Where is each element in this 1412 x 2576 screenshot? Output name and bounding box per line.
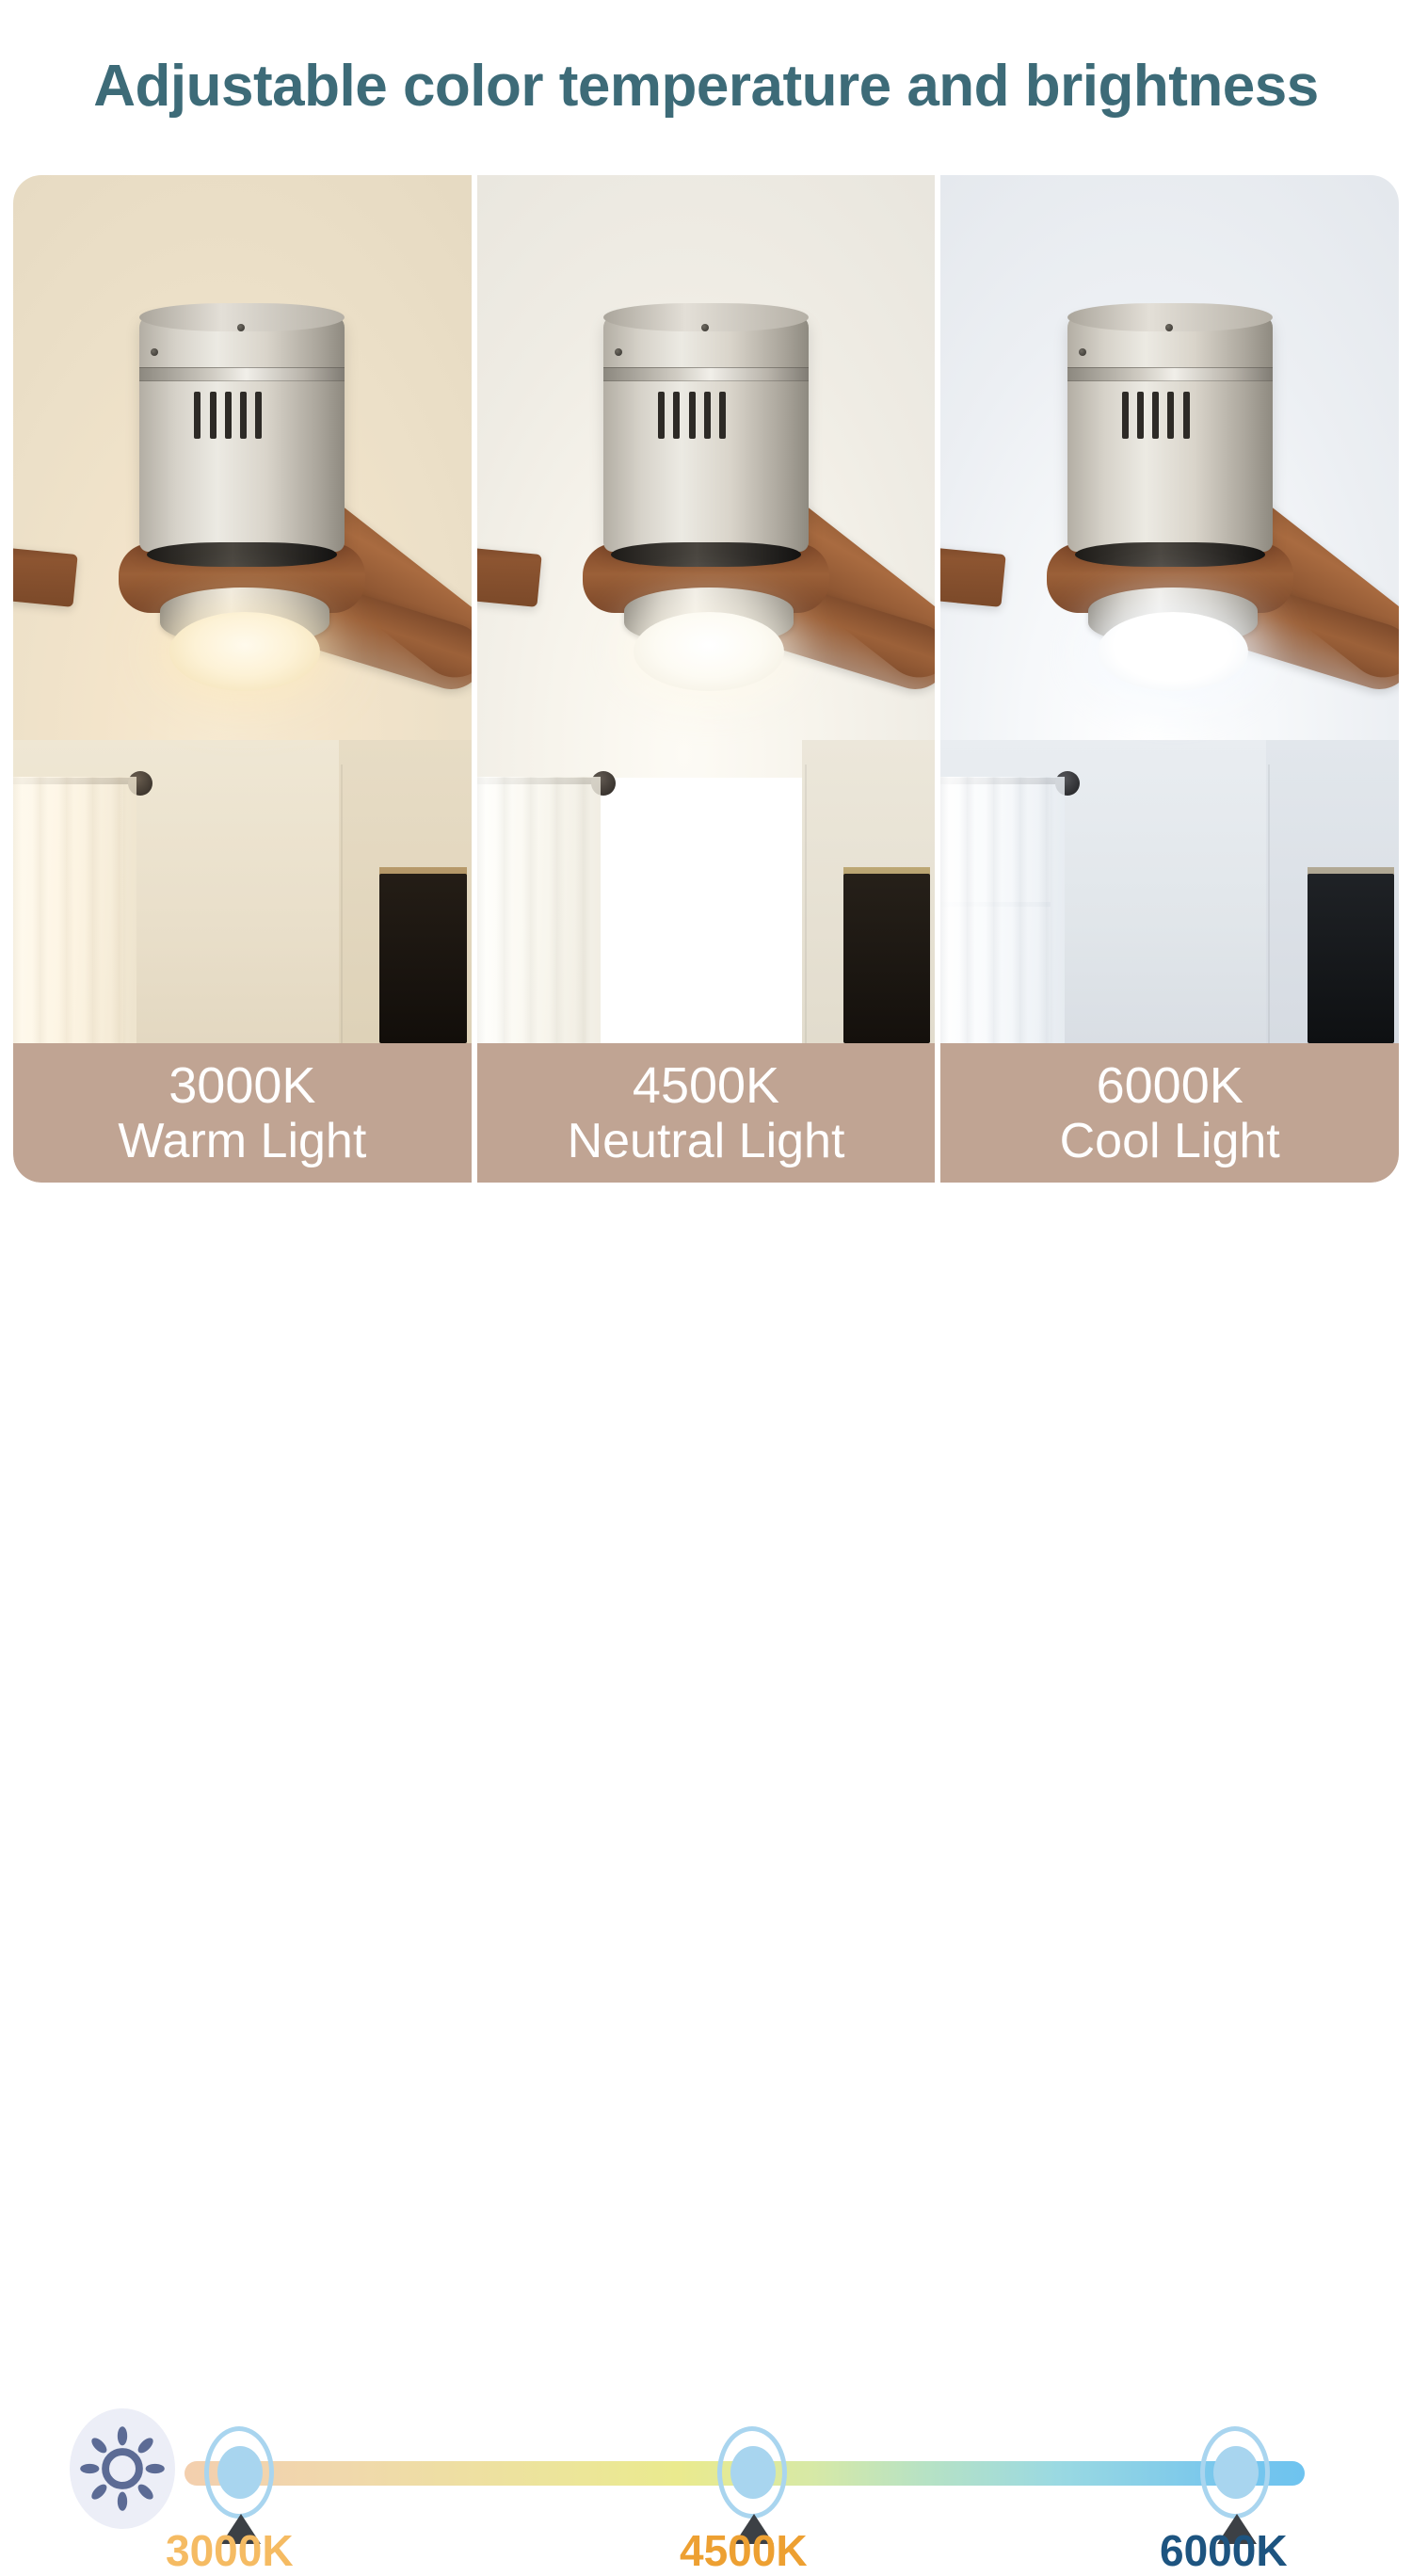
- panel-cool: 6000K Cool Light: [940, 175, 1399, 1183]
- dark-furniture: [843, 874, 930, 1043]
- vent-slot: [719, 392, 726, 439]
- vent-slot: [240, 392, 247, 439]
- fan-blade: [13, 527, 78, 606]
- motor-vents: [194, 392, 262, 439]
- vent-slot: [1122, 392, 1129, 439]
- caption-neutral: 4500K Neutral Light: [477, 1043, 936, 1183]
- motor-vents: [1122, 392, 1190, 439]
- fan-blade: [477, 527, 542, 606]
- motor-base-ring: [147, 542, 337, 567]
- motor-vents: [658, 392, 726, 439]
- curtain: [940, 777, 1064, 1043]
- light-fixture: [160, 588, 329, 697]
- caption-kelvin: 6000K: [1097, 1059, 1244, 1112]
- room-interior: [13, 740, 472, 1043]
- light-lens-warm: [169, 612, 320, 691]
- vent-slot: [689, 392, 696, 439]
- room-interior: [477, 740, 936, 1043]
- room-interior: [940, 740, 1399, 1043]
- panel-warm: 3000K Warm Light: [13, 175, 472, 1183]
- slider-handle-3000k[interactable]: [188, 2422, 292, 2525]
- wall-corner: [341, 765, 343, 1043]
- slider-handle-4500k[interactable]: [701, 2422, 805, 2525]
- caption-kelvin: 4500K: [633, 1059, 779, 1112]
- product-photo-warm: [13, 175, 472, 1043]
- curtain-folds: [477, 777, 601, 1043]
- motor-chrome-ring: [139, 367, 345, 381]
- handle-knob: [1213, 2446, 1259, 2499]
- caption-warm: 3000K Warm Light: [13, 1043, 472, 1183]
- slider-handle-6000k[interactable]: [1184, 2422, 1288, 2525]
- vent-slot: [1137, 392, 1144, 439]
- page-title: Adjustable color temperature and brightn…: [0, 53, 1412, 120]
- light-lens-cool: [1098, 612, 1248, 691]
- ceiling-fan-warm: [21, 314, 463, 748]
- vent-slot: [1167, 392, 1174, 439]
- housing-screw: [701, 324, 709, 331]
- motor-base-ring: [611, 542, 801, 567]
- fan-blade: [940, 527, 1005, 606]
- fan-motor-housing: [139, 314, 345, 552]
- dark-furniture: [1308, 874, 1394, 1043]
- light-fixture: [624, 588, 794, 697]
- vent-slot: [225, 392, 232, 439]
- ceiling-fan-neutral: [485, 314, 927, 748]
- vent-slot: [658, 392, 665, 439]
- product-photo-neutral: [477, 175, 936, 1043]
- curtain-folds: [940, 777, 1064, 1043]
- handle-knob: [730, 2446, 776, 2499]
- ceiling-fan-cool: [949, 314, 1391, 748]
- caption-cool: 6000K Cool Light: [940, 1043, 1399, 1183]
- wall-corner: [1268, 765, 1270, 1043]
- vent-slot: [673, 392, 680, 439]
- caption-name: Neutral Light: [568, 1116, 845, 1167]
- comparison-panel-strip: 3000K Warm Light: [13, 175, 1399, 1183]
- fan-motor-housing: [1067, 314, 1273, 552]
- slider-label-6000k: 6000K: [1160, 2525, 1288, 2576]
- color-temperature-slider[interactable]: 3000K 4500K 6000K: [0, 1198, 1412, 1412]
- panel-neutral: 4500K Neutral Light: [477, 175, 936, 1183]
- brightness-sun-icon: [70, 2408, 175, 2529]
- fan-motor-housing: [603, 314, 809, 552]
- product-photo-cool: [940, 175, 1399, 1043]
- caption-name: Cool Light: [1060, 1116, 1280, 1167]
- slider-label-4500k: 4500K: [680, 2525, 808, 2576]
- slider-label-3000k: 3000K: [166, 2525, 294, 2576]
- housing-screw: [151, 348, 158, 356]
- housing-screw: [1165, 324, 1173, 331]
- wall-corner: [805, 765, 807, 1043]
- vent-slot: [255, 392, 262, 439]
- vent-slot: [704, 392, 711, 439]
- vent-slot: [1152, 392, 1159, 439]
- handle-knob: [217, 2446, 263, 2499]
- caption-kelvin: 3000K: [168, 1059, 315, 1112]
- light-lens-neutral: [634, 612, 784, 691]
- vent-slot: [1183, 392, 1190, 439]
- dark-furniture: [379, 874, 466, 1043]
- curtain-folds: [13, 777, 136, 1043]
- curtain: [13, 777, 136, 1043]
- motor-chrome-ring: [1067, 367, 1273, 381]
- motor-chrome-ring: [603, 367, 809, 381]
- vent-slot: [210, 392, 217, 439]
- housing-screw: [615, 348, 622, 356]
- housing-screw: [1079, 348, 1086, 356]
- caption-name: Warm Light: [118, 1116, 366, 1167]
- housing-screw: [237, 324, 245, 331]
- vent-slot: [194, 392, 201, 439]
- motor-base-ring: [1075, 542, 1265, 567]
- light-fixture: [1088, 588, 1258, 697]
- curtain: [477, 777, 601, 1043]
